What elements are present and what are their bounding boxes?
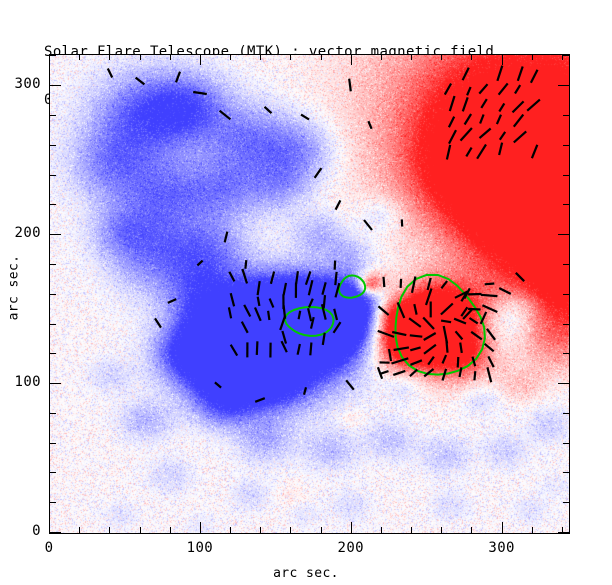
y-minor-tick-right	[563, 413, 569, 414]
y-minor-tick-right	[563, 502, 569, 503]
x-major-tick-top	[351, 54, 352, 65]
y-minor-tick	[50, 264, 56, 265]
y-minor-tick	[50, 502, 56, 503]
y-minor-tick	[50, 55, 56, 56]
x-minor-tick-top	[140, 54, 141, 60]
y-minor-tick	[50, 145, 56, 146]
y-minor-tick-right	[563, 175, 569, 176]
y-minor-tick	[50, 324, 56, 325]
x-minor-tick-top	[260, 54, 261, 60]
x-major-tick	[351, 522, 352, 533]
y-tick-label: 200	[0, 225, 41, 241]
y-minor-tick-right	[563, 443, 569, 444]
x-minor-tick	[471, 527, 472, 533]
y-minor-tick-right	[563, 264, 569, 265]
x-minor-tick	[321, 527, 322, 533]
y-minor-tick-right	[563, 204, 569, 205]
y-minor-tick-right	[563, 353, 569, 354]
y-minor-tick	[50, 175, 56, 176]
y-major-tick-right	[558, 234, 569, 235]
x-tick-label: 300	[472, 540, 532, 556]
x-minor-tick	[290, 527, 291, 533]
y-tick-label: 300	[0, 76, 41, 92]
x-tick-label: 0	[19, 540, 79, 556]
x-minor-tick-top	[381, 54, 382, 60]
x-minor-tick	[260, 527, 261, 533]
magnetogram-figure: Solar Flare Telescope (MTK) : vector mag…	[0, 0, 612, 585]
x-minor-tick-top	[471, 54, 472, 60]
x-minor-tick	[411, 527, 412, 533]
x-minor-tick	[532, 527, 533, 533]
y-tick-label: 100	[0, 374, 41, 390]
y-major-tick	[50, 234, 61, 235]
x-minor-tick-top	[79, 54, 80, 60]
plot-area	[49, 54, 570, 534]
x-minor-tick	[441, 527, 442, 533]
y-minor-tick	[50, 472, 56, 473]
x-minor-tick-top	[230, 54, 231, 60]
x-minor-tick-top	[532, 54, 533, 60]
x-minor-tick-top	[441, 54, 442, 60]
x-minor-tick-top	[170, 54, 171, 60]
x-minor-tick	[170, 527, 171, 533]
y-minor-tick-right	[563, 472, 569, 473]
x-major-tick	[200, 522, 201, 533]
x-minor-tick	[79, 527, 80, 533]
y-major-tick-right	[558, 85, 569, 86]
x-minor-tick-top	[290, 54, 291, 60]
y-minor-tick-right	[563, 55, 569, 56]
y-tick-label: 0	[0, 523, 41, 539]
y-minor-tick-right	[563, 145, 569, 146]
y-major-tick-right	[558, 532, 569, 533]
y-minor-tick	[50, 115, 56, 116]
y-major-tick-right	[558, 383, 569, 384]
x-major-tick-top	[502, 54, 503, 65]
y-minor-tick	[50, 443, 56, 444]
y-minor-tick	[50, 204, 56, 205]
magnetogram-image	[50, 55, 569, 533]
y-minor-tick-right	[563, 324, 569, 325]
y-minor-tick	[50, 353, 56, 354]
y-minor-tick	[50, 294, 56, 295]
x-axis-label: arc sec.	[0, 566, 612, 581]
x-minor-tick	[230, 527, 231, 533]
x-major-tick	[502, 522, 503, 533]
x-minor-tick-top	[321, 54, 322, 60]
y-minor-tick-right	[563, 115, 569, 116]
x-tick-label: 200	[321, 540, 381, 556]
x-minor-tick-top	[109, 54, 110, 60]
y-minor-tick	[50, 413, 56, 414]
y-major-tick	[50, 532, 61, 533]
y-minor-tick-right	[563, 294, 569, 295]
x-minor-tick	[109, 527, 110, 533]
x-minor-tick-top	[411, 54, 412, 60]
x-tick-label: 100	[170, 540, 230, 556]
x-minor-tick	[140, 527, 141, 533]
y-major-tick	[50, 383, 61, 384]
x-minor-tick	[381, 527, 382, 533]
x-major-tick-top	[200, 54, 201, 65]
y-major-tick	[50, 85, 61, 86]
y-axis-label: arc sec.	[7, 248, 22, 328]
